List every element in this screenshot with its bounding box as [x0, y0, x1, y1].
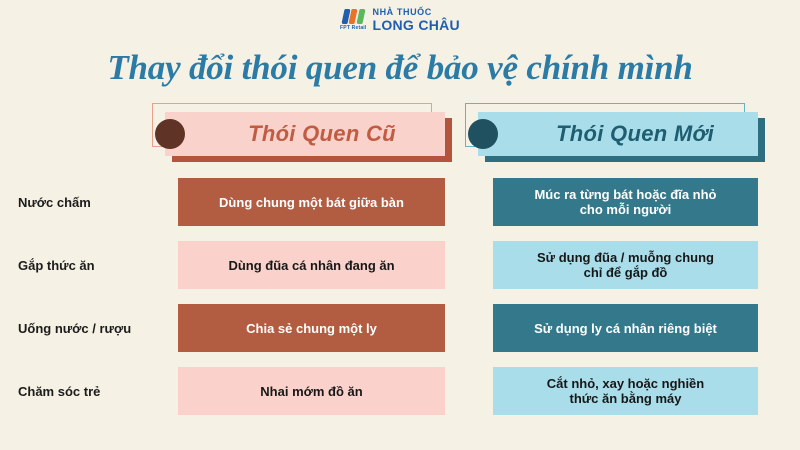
- logo-wordmark: NHÀ THUỐC LONG CHÂU: [372, 8, 459, 32]
- column-header-old: Thói Quen Cũ: [165, 112, 445, 156]
- comparison-rows: Nước chấm Dùng chung một bát giữa bàn Mú…: [0, 178, 800, 415]
- column-header-old-fill: Thói Quen Cũ: [165, 112, 445, 156]
- row-cell-new: Múc ra từng bát hoặc đĩa nhỏcho mỗi ngườ…: [493, 178, 758, 226]
- table-row: Uống nước / rượu Chia sẻ chung một ly Sử…: [0, 304, 800, 352]
- row-cell-old: Chia sẻ chung một ly: [178, 304, 445, 352]
- logo-line-nha-thuoc: NHÀ THUỐC: [372, 8, 459, 17]
- row-label: Uống nước / rượu: [18, 304, 170, 352]
- logo-line-long-chau: LONG CHÂU: [372, 18, 459, 32]
- logo-fpt-retail-label: FPT Retail: [340, 25, 366, 31]
- brand-logo: FPT Retail NHÀ THUỐC LONG CHÂU: [0, 8, 800, 32]
- row-label: Gắp thức ăn: [18, 241, 170, 289]
- logo: FPT Retail NHÀ THUỐC LONG CHÂU: [340, 8, 460, 32]
- row-cell-new: Sử dụng ly cá nhân riêng biệt: [493, 304, 758, 352]
- row-cell-new: Cắt nhỏ, xay hoặc nghiềnthức ăn bằng máy: [493, 367, 758, 415]
- column-header-new: Thói Quen Mới: [478, 112, 758, 156]
- row-cell-old: Dùng đũa cá nhân đang ăn: [178, 241, 445, 289]
- row-label: Chăm sóc trẻ: [18, 367, 170, 415]
- column-header-new-fill: Thói Quen Mới: [478, 112, 758, 156]
- column-headers: Thói Quen Cũ Thói Quen Mới: [0, 104, 800, 160]
- row-label: Nước chấm: [18, 178, 170, 226]
- row-cell-old: Nhai mớm đồ ăn: [178, 367, 445, 415]
- column-header-new-label: Thói Quen Mới: [522, 121, 714, 147]
- column-header-old-label: Thói Quen Cũ: [214, 121, 396, 147]
- table-row: Gắp thức ăn Dùng đũa cá nhân đang ăn Sử …: [0, 241, 800, 289]
- page-title: Thay đổi thói quen để bảo vệ chính mình: [0, 48, 800, 88]
- column-header-old-dot-icon: [155, 119, 185, 149]
- row-cell-new: Sử dụng đũa / muỗng chungchỉ để gắp đồ: [493, 241, 758, 289]
- column-header-new-dot-icon: [468, 119, 498, 149]
- logo-slash-marks: [343, 9, 364, 24]
- table-row: Chăm sóc trẻ Nhai mớm đồ ăn Cắt nhỏ, xay…: [0, 367, 800, 415]
- logo-slash-green: [356, 9, 365, 24]
- fpt-retail-logo-icon: FPT Retail: [340, 9, 366, 31]
- table-row: Nước chấm Dùng chung một bát giữa bàn Mú…: [0, 178, 800, 226]
- row-cell-old: Dùng chung một bát giữa bàn: [178, 178, 445, 226]
